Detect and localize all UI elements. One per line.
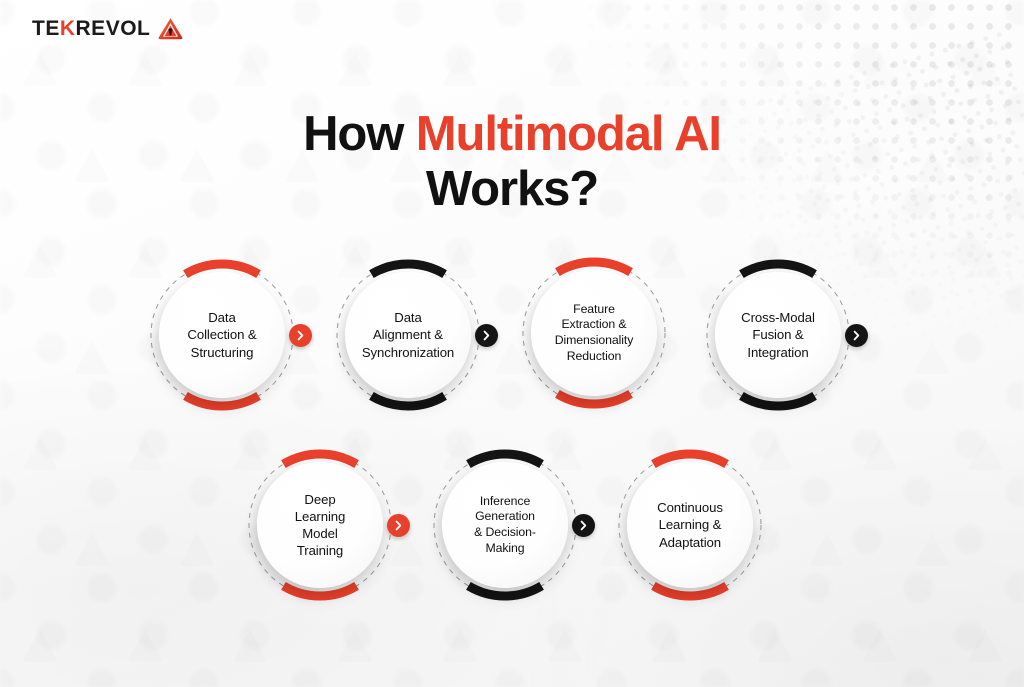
connector-arrow-4[interactable] bbox=[845, 324, 868, 347]
step-label-7: Continuous Learning & Adaptation bbox=[651, 499, 729, 550]
process-flow: Data Collection & StructuringData Alignm… bbox=[0, 0, 1024, 687]
chevron-right-icon bbox=[578, 520, 589, 531]
process-step-5[interactable]: Deep Learning Model Training bbox=[242, 447, 398, 603]
chevron-right-icon bbox=[295, 330, 306, 341]
process-step-4[interactable]: Cross-Modal Fusion & Integration bbox=[700, 257, 856, 413]
connector-arrow-6[interactable] bbox=[572, 514, 595, 537]
step-label-4: Cross-Modal Fusion & Integration bbox=[735, 309, 821, 360]
step-disc-1[interactable]: Data Collection & Structuring bbox=[159, 272, 285, 398]
connector-arrow-2[interactable] bbox=[475, 324, 498, 347]
step-label-3: Feature Extraction & Dimensionality Redu… bbox=[549, 302, 640, 364]
step-label-2: Data Alignment & Synchronization bbox=[356, 309, 460, 360]
process-step-1[interactable]: Data Collection & Structuring bbox=[144, 257, 300, 413]
process-step-6[interactable]: Inference Generation & Decision- Making bbox=[427, 447, 583, 603]
chevron-right-icon bbox=[393, 520, 404, 531]
step-disc-7[interactable]: Continuous Learning & Adaptation bbox=[627, 462, 753, 588]
connector-arrow-5[interactable] bbox=[387, 514, 410, 537]
step-disc-2[interactable]: Data Alignment & Synchronization bbox=[345, 272, 471, 398]
connector-arrow-1[interactable] bbox=[289, 324, 312, 347]
step-disc-6[interactable]: Inference Generation & Decision- Making bbox=[442, 462, 568, 588]
step-disc-5[interactable]: Deep Learning Model Training bbox=[257, 462, 383, 588]
process-step-2[interactable]: Data Alignment & Synchronization bbox=[330, 257, 486, 413]
step-label-1: Data Collection & Structuring bbox=[181, 309, 262, 360]
chevron-right-icon bbox=[851, 330, 862, 341]
infographic-canvas: TEKREVOL How Multimodal AI Works? Data C… bbox=[0, 0, 1024, 687]
step-disc-4[interactable]: Cross-Modal Fusion & Integration bbox=[715, 272, 841, 398]
step-disc-3[interactable]: Feature Extraction & Dimensionality Redu… bbox=[531, 270, 657, 396]
step-label-5: Deep Learning Model Training bbox=[289, 491, 352, 559]
process-step-3[interactable]: Feature Extraction & Dimensionality Redu… bbox=[516, 255, 672, 411]
step-label-6: Inference Generation & Decision- Making bbox=[468, 494, 542, 556]
process-step-7[interactable]: Continuous Learning & Adaptation bbox=[612, 447, 768, 603]
chevron-right-icon bbox=[481, 330, 492, 341]
